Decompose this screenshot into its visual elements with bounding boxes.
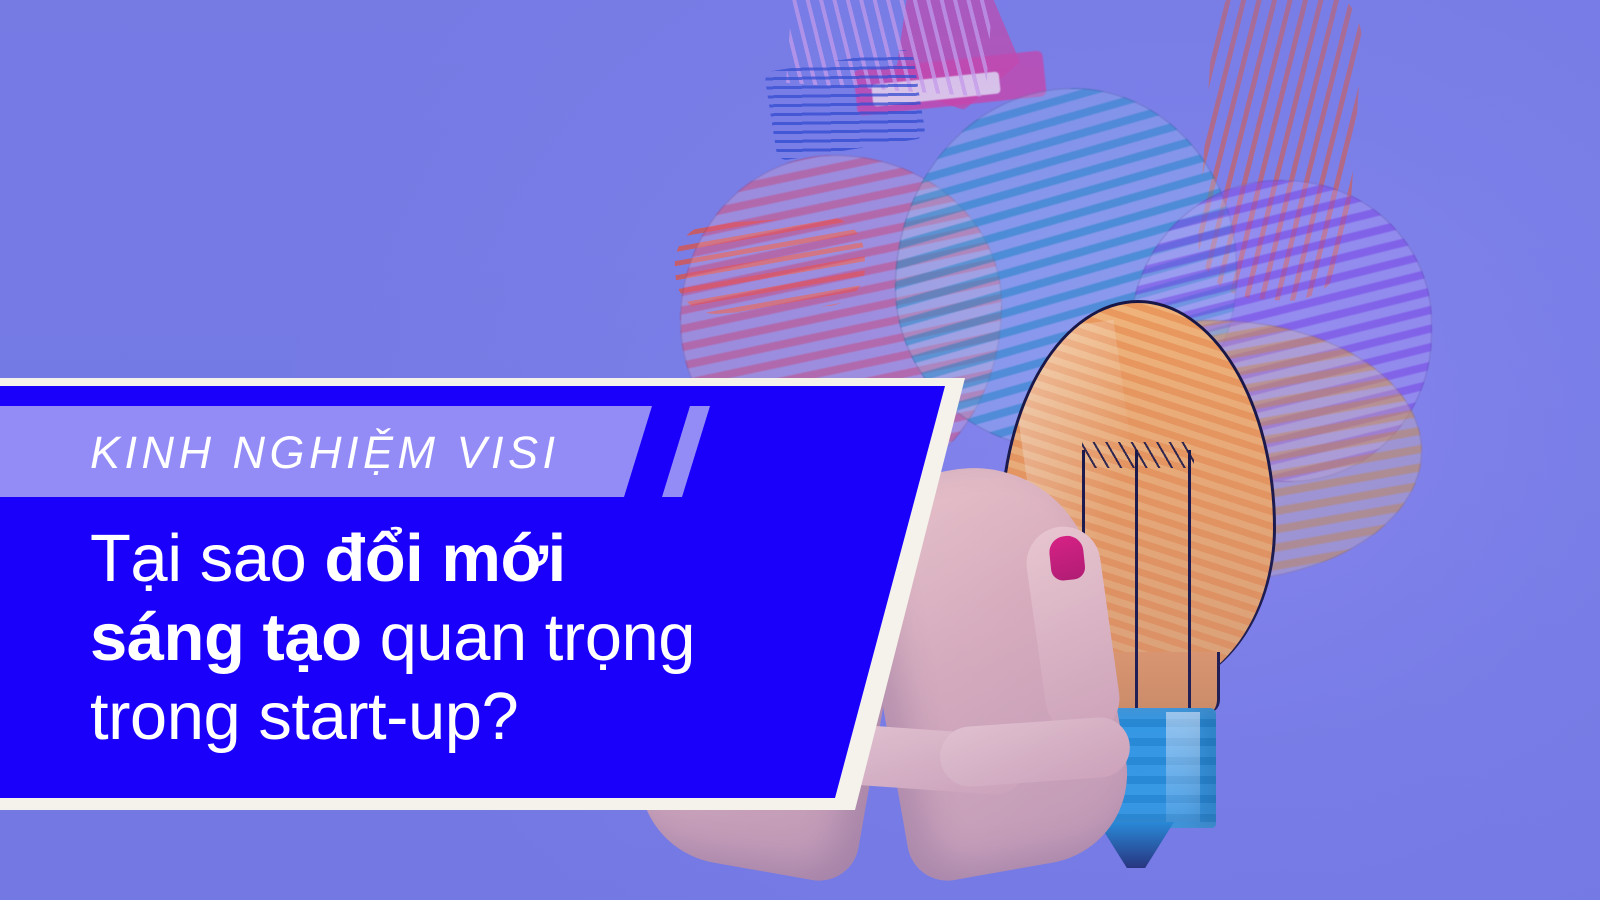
headline-line-2-plain: quan trọng: [362, 600, 696, 675]
headline-line-3: trong start-up?: [90, 677, 830, 756]
kicker-label: KINH NGHIỆM VISI: [90, 414, 560, 492]
headline-line-1-bold: đổi mới: [324, 521, 565, 596]
page-title: Tại sao đổi mới sáng tạo quan trọng tron…: [90, 519, 830, 756]
headline-line-2: sáng tạo quan trọng: [90, 598, 830, 677]
poster-canvas: KINH NGHIỆM VISI Tại sao đổi mới sáng tạ…: [0, 0, 1600, 900]
headline-line-1-plain: Tại sao: [90, 521, 324, 596]
headline-line-1: Tại sao đổi mới: [90, 519, 830, 598]
headline-line-3-plain: trong start-up?: [90, 679, 518, 754]
headline-line-2-bold: sáng tạo: [90, 600, 362, 675]
